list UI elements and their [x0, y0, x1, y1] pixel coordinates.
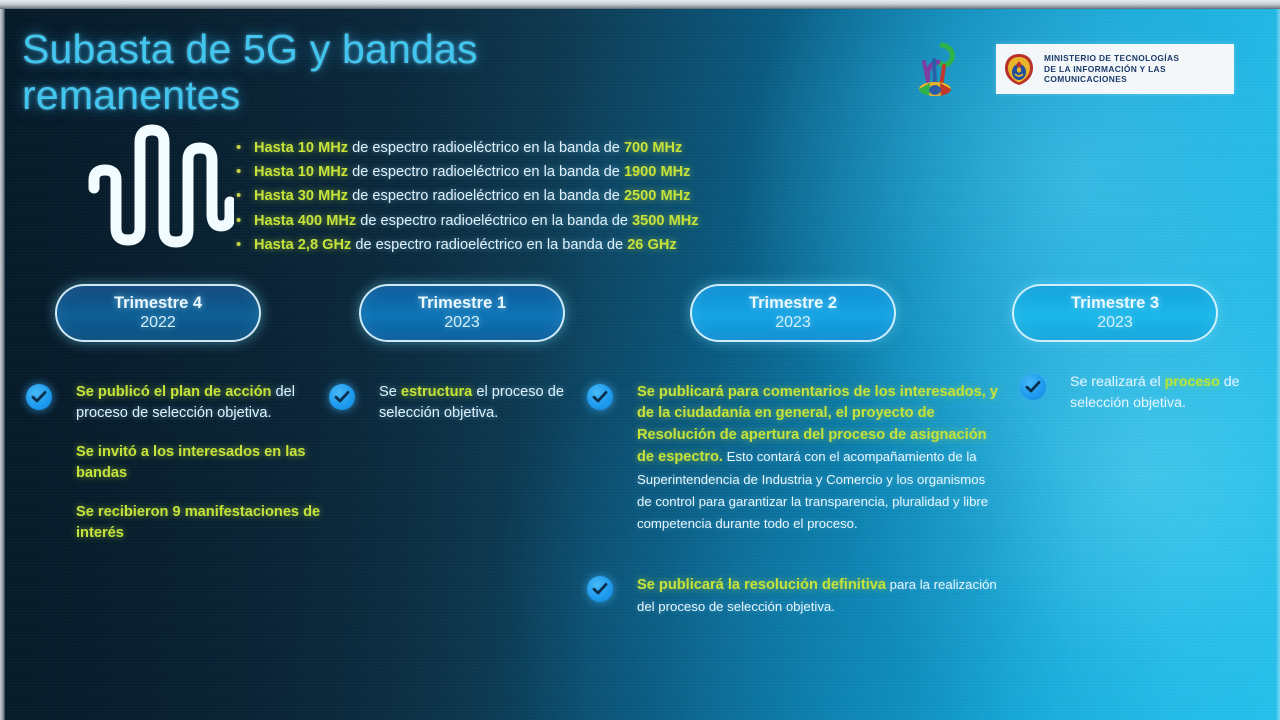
bullet-tail: 2500 MHz [624, 188, 691, 204]
presentation-slide: Subasta de 5G y bandas remanentes [0, 0, 1280, 720]
bullet-dot-icon: • [236, 209, 254, 233]
bullet-mid: de espectro radioeléctrico en la banda d… [348, 188, 624, 204]
check-paragraph: Se realizará el proceso de selección obj… [1070, 372, 1268, 414]
pill-quarter-label: Trimestre 1 [418, 294, 506, 313]
paragraph-highlight: Se publicará la resolución definitiva [637, 577, 886, 593]
pill-quarter-label: Trimestre 3 [1071, 294, 1159, 313]
check-item: Se estructura el proceso de selección ob… [325, 382, 575, 425]
check-item: Se publicó el plan de acción del proceso… [22, 382, 322, 544]
bullet-lead: Hasta 10 MHz [254, 164, 348, 180]
timeline-pill-trimestre-2[interactable]: Trimestre 2 2023 [690, 284, 896, 342]
check-paragraph: Se estructura el proceso de selección ob… [379, 382, 575, 425]
list-item: • Hasta 400 MHz de espectro radioeléctri… [236, 209, 856, 233]
check-item: Se publicará para comentarios de los int… [583, 382, 1003, 536]
timeline-column-trimestre-1: Se estructura el proceso de selección ob… [325, 382, 575, 443]
timeline-column-trimestre-2: Se publicará para comentarios de los int… [583, 382, 1003, 637]
paragraph-highlight: estructura [401, 384, 472, 400]
paragraph-highlight: Se recibieron 9 manifestaciones de inter… [76, 504, 320, 541]
timeline-column-trimestre-4: Se publicó el plan de acción del proceso… [22, 382, 322, 562]
check-paragraph: Se recibieron 9 manifestaciones de inter… [76, 502, 322, 545]
timeline-pill-trimestre-3[interactable]: Trimestre 3 2023 [1012, 284, 1218, 342]
pill-year-label: 2022 [140, 313, 176, 333]
check-paragraph: Se invitó a los interesados en las banda… [76, 442, 322, 485]
check-icon [587, 576, 613, 602]
timeline-column-trimestre-3: Se realizará el proceso de selección obj… [1016, 372, 1268, 432]
bullet-lead: Hasta 30 MHz [254, 188, 348, 204]
timeline-pill-trimestre-1[interactable]: Trimestre 1 2023 [359, 284, 565, 342]
bullet-mid: de espectro radioeléctrico en la banda d… [351, 237, 627, 253]
check-icon [26, 384, 52, 410]
bullet-lead: Hasta 400 MHz [254, 213, 356, 229]
pill-year-label: 2023 [775, 313, 811, 333]
check-paragraph: Se publicará para comentarios de los int… [637, 382, 1003, 536]
paragraph-highlight: proceso [1165, 374, 1220, 390]
video-player-top-edge [0, 0, 1280, 9]
timeline-pill-trimestre-4[interactable]: Trimestre 4 2022 [55, 284, 261, 342]
slide-title: Subasta de 5G y bandas remanentes [22, 26, 662, 118]
list-item: • Hasta 10 MHz de espectro radioeléctric… [236, 160, 856, 184]
pill-quarter-label: Trimestre 2 [749, 294, 837, 313]
bullet-lead: Hasta 2,8 GHz [254, 237, 351, 253]
list-item: • Hasta 30 MHz de espectro radioeléctric… [236, 184, 856, 208]
bullet-mid: de espectro radioeléctrico en la banda d… [348, 140, 624, 156]
bullet-dot-icon: • [236, 136, 254, 160]
paragraph-pre: Se realizará el [1070, 374, 1165, 390]
check-icon [1020, 374, 1046, 400]
colombia-country-brand-mark [908, 38, 964, 100]
check-paragraph: Se publicó el plan de acción del proceso… [76, 382, 322, 425]
paragraph-highlight: Se invitó a los interesados en las banda… [76, 444, 306, 481]
bullet-tail: 3500 MHz [632, 213, 699, 229]
list-item: • Hasta 2,8 GHz de espectro radioeléctri… [236, 233, 856, 257]
bullet-tail: 1900 MHz [624, 164, 691, 180]
sound-waveform-icon [88, 122, 234, 250]
bullet-tail: 26 GHz [627, 237, 676, 253]
bullet-dot-icon: • [236, 184, 254, 208]
check-icon [329, 384, 355, 410]
colombia-coat-of-arms-emblem [1003, 52, 1035, 86]
pill-year-label: 2023 [444, 313, 480, 333]
spectrum-bullet-list: • Hasta 10 MHz de espectro radioeléctric… [236, 136, 856, 257]
pill-quarter-label: Trimestre 4 [114, 294, 202, 313]
paragraph-highlight: Se publicó el plan de acción [76, 384, 271, 400]
pill-year-label: 2023 [1097, 313, 1133, 333]
check-item: Se publicará la resolución definitiva pa… [583, 574, 1003, 619]
bullet-tail: 700 MHz [624, 140, 682, 156]
bullet-dot-icon: • [236, 160, 254, 184]
check-paragraph: Se publicará la resolución definitiva pa… [637, 574, 1003, 619]
paragraph-pre: Se [379, 384, 401, 400]
check-icon [587, 384, 613, 410]
ministry-logo: MINISTERIO DE TECNOLOGÍAS DE LA INFORMAC… [996, 44, 1234, 94]
bullet-lead: Hasta 10 MHz [254, 140, 348, 156]
check-item: Se realizará el proceso de selección obj… [1016, 372, 1268, 414]
bullet-dot-icon: • [236, 233, 254, 257]
bullet-mid: de espectro radioeléctrico en la banda d… [356, 213, 632, 229]
bullet-mid: de espectro radioeléctrico en la banda d… [348, 164, 624, 180]
ministry-logo-text: MINISTERIO DE TECNOLOGÍAS DE LA INFORMAC… [1044, 53, 1179, 84]
video-player-right-edge [1276, 9, 1280, 720]
list-item: • Hasta 10 MHz de espectro radioeléctric… [236, 136, 856, 160]
video-player-left-edge [0, 9, 5, 720]
